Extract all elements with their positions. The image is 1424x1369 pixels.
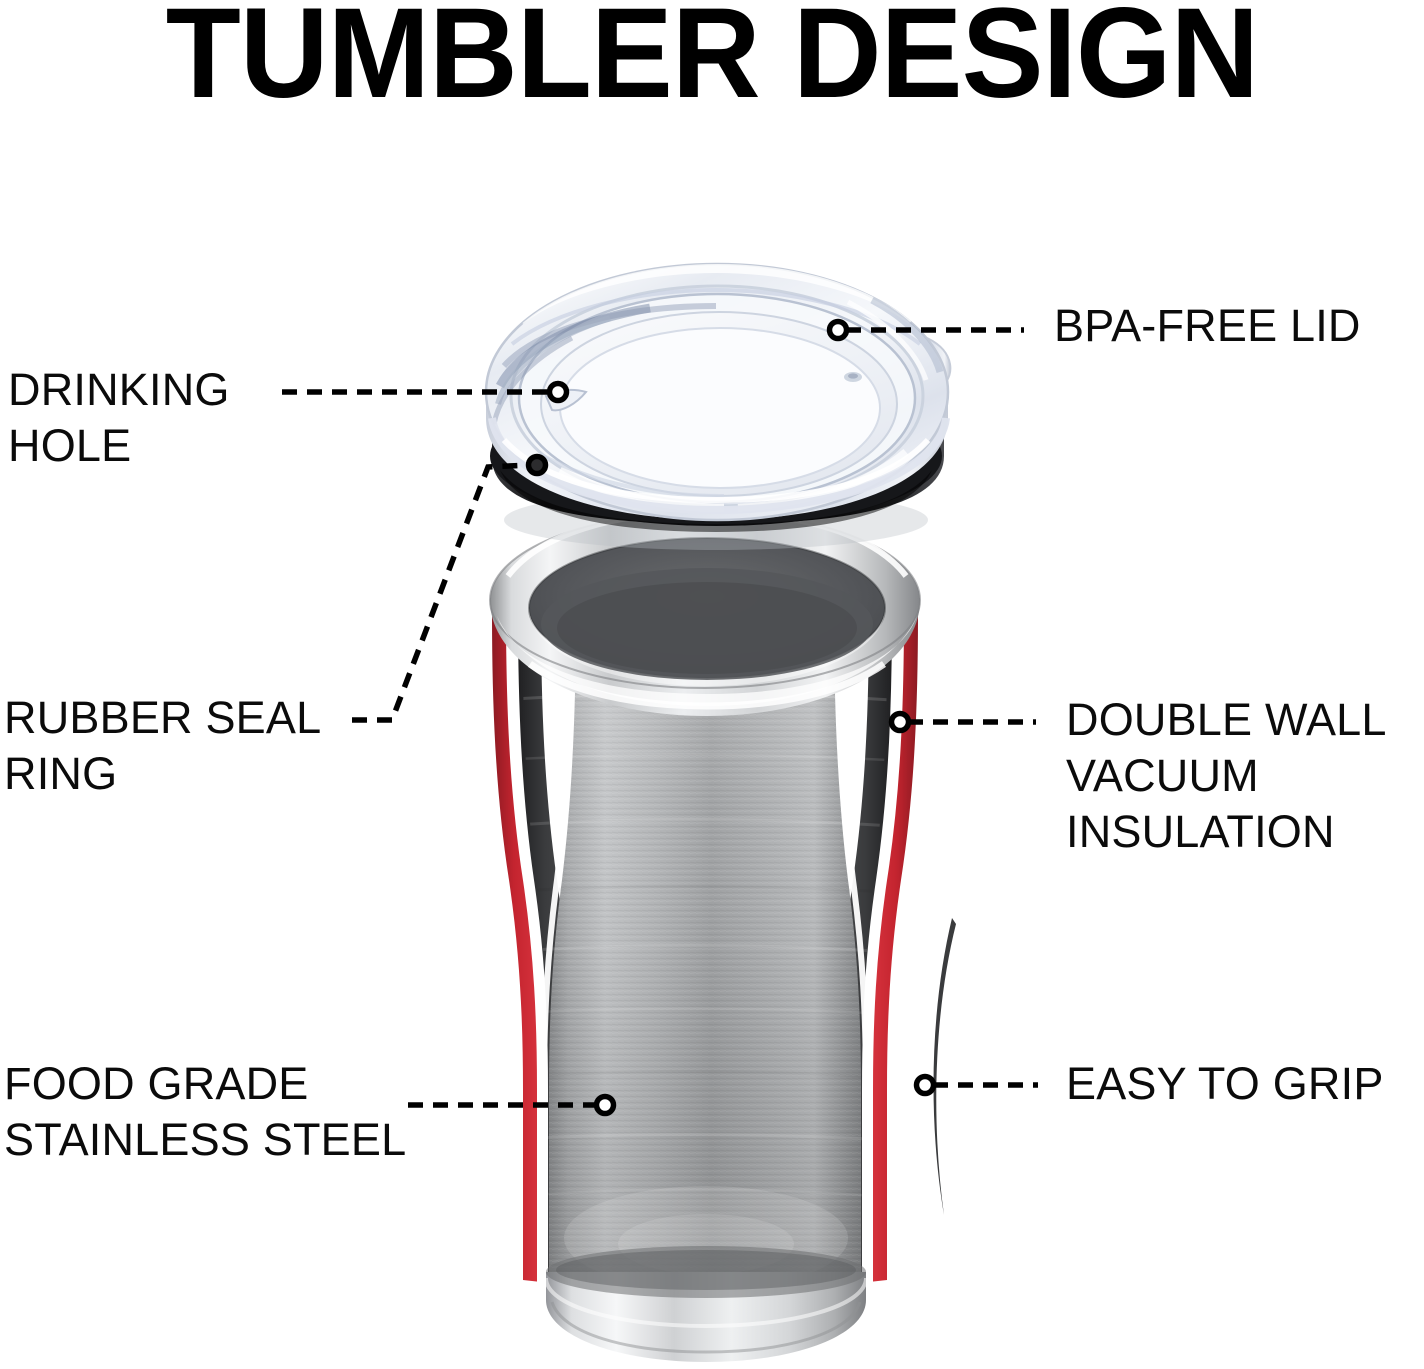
anchor-bpa-free-lid bbox=[830, 322, 847, 339]
tumbler-body-group bbox=[490, 512, 956, 1362]
callout-label-easy-to-grip: EASY TO GRIP bbox=[1066, 1056, 1384, 1112]
tumbler-base bbox=[546, 1246, 866, 1362]
anchor-drinking-hole bbox=[550, 384, 567, 401]
callout-label-rubber-seal-ring: RUBBER SEAL RING bbox=[4, 690, 321, 802]
callout-label-bpa-free-lid: BPA-FREE LID bbox=[1054, 298, 1361, 354]
callout-label-drinking-hole: DRINKING HOLE bbox=[8, 362, 230, 474]
anchor-easy-to-grip bbox=[917, 1077, 934, 1094]
infographic-page: TUMBLER DESIGN bbox=[0, 0, 1424, 1369]
anchor-rubber-seal-ring bbox=[529, 457, 546, 474]
callout-label-double-wall-vacuum-insulation: DOUBLE WALL VACUUM INSULATION bbox=[1066, 692, 1387, 860]
callout-label-food-grade-stainless-steel: FOOD GRADE STAINLESS STEEL bbox=[4, 1056, 406, 1168]
lid-group bbox=[486, 264, 950, 550]
anchor-food-grade bbox=[597, 1097, 614, 1114]
anchor-double-wall bbox=[892, 714, 909, 731]
grip-arc-icon bbox=[903, 918, 956, 1216]
